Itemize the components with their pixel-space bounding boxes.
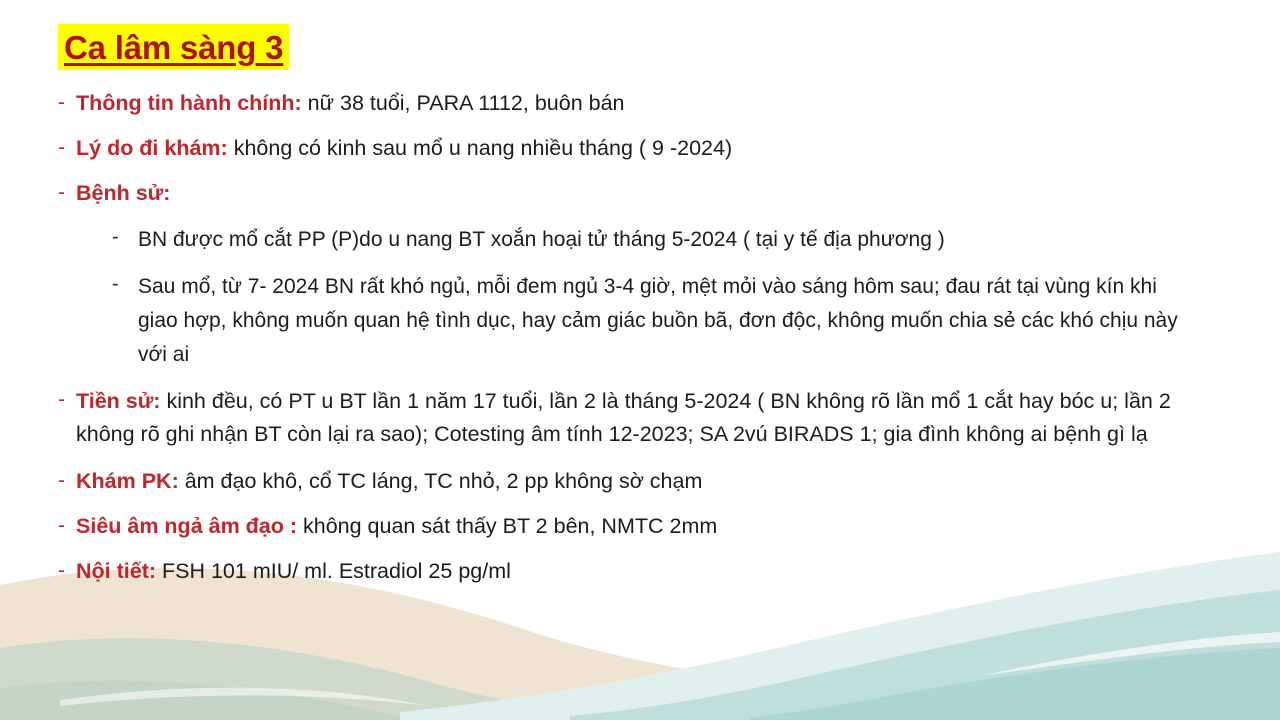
list-item: - Tiền sử: kinh đều, có PT u BT lần 1 nă…	[58, 385, 1238, 451]
list-item-label: Khám PK:	[76, 469, 179, 493]
bullet-dash: -	[58, 556, 76, 586]
title-container: Ca lâm sàng 3	[58, 24, 289, 70]
teal-highlight-streak	[980, 632, 1280, 676]
content-list: - Thông tin hành chính: nữ 38 tuổi, PARA…	[58, 88, 1238, 601]
list-item-value: kinh đều, có PT u BT lần 1 năm 17 tuổi, …	[76, 389, 1171, 446]
list-item-text: Khám PK: âm đạo khô, cổ TC láng, TC nhỏ,…	[76, 466, 702, 496]
list-item-value: âm đạo khô, cổ TC láng, TC nhỏ, 2 pp khô…	[179, 469, 703, 493]
list-item: - Lý do đi khám: không có kinh sau mổ u …	[58, 133, 1238, 163]
list-item-value: nữ 38 tuổi, PARA 1112, buôn bán	[302, 91, 625, 115]
list-item-text: Siêu âm ngả âm đạo : không quan sát thấy…	[76, 511, 717, 541]
bullet-dash: -	[58, 133, 76, 163]
sub-list-item-text: Sau mổ, từ 7- 2024 BN rất khó ngủ, mỗi đ…	[138, 270, 1198, 372]
list-item-text: Bệnh sử:	[76, 178, 170, 208]
bullet-dash: -	[58, 385, 76, 415]
list-item: - Thông tin hành chính: nữ 38 tuổi, PARA…	[58, 88, 1238, 118]
list-item-label: Thông tin hành chính:	[76, 91, 302, 115]
list-item: - Bệnh sử:	[58, 178, 1238, 208]
list-item-label: Bệnh sử:	[76, 181, 170, 205]
teal-wave-shape	[570, 590, 1280, 720]
sub-list-item: - BN được mổ cắt PP (P)do u nang BT xoắn…	[112, 223, 1238, 257]
tan-wave-shape	[0, 679, 720, 720]
list-item: - Siêu âm ngả âm đạo : không quan sát th…	[58, 511, 1238, 541]
sage-deep-wave-shape	[0, 681, 440, 720]
bullet-dash: -	[112, 270, 138, 299]
list-item-text: Nội tiết: FSH 101 mIU/ ml. Estradiol 25 …	[76, 556, 511, 586]
list-item-label: Lý do đi khám:	[76, 136, 228, 160]
teal-deep-wave-shape	[750, 648, 1280, 720]
list-item: - Khám PK: âm đạo khô, cổ TC láng, TC nh…	[58, 466, 1238, 496]
list-item-value: không quan sát thấy BT 2 bên, NMTC 2mm	[297, 514, 717, 538]
bullet-dash: -	[58, 466, 76, 496]
list-item-text: Tiền sử: kinh đều, có PT u BT lần 1 năm …	[76, 385, 1196, 451]
list-item-value: FSH 101 mIU/ ml. Estradiol 25 pg/ml	[156, 559, 511, 583]
bullet-dash: -	[58, 178, 76, 208]
list-item-value: không có kinh sau mổ u nang nhiều tháng …	[228, 136, 732, 160]
bullet-dash: -	[58, 511, 76, 541]
white-streak-left	[60, 688, 430, 706]
list-item-label: Siêu âm ngả âm đạo :	[76, 514, 297, 538]
bullet-dash: -	[112, 223, 138, 252]
list-item-label: Tiền sử:	[76, 389, 160, 413]
list-item-text: Lý do đi khám: không có kinh sau mổ u na…	[76, 133, 732, 163]
sub-list-item-text: BN được mổ cắt PP (P)do u nang BT xoắn h…	[138, 223, 945, 257]
slide: Ca lâm sàng 3 - Thông tin hành chính: nữ…	[0, 0, 1280, 720]
slide-title: Ca lâm sàng 3	[58, 24, 289, 70]
bullet-dash: -	[58, 88, 76, 118]
sub-list-item: - Sau mổ, từ 7- 2024 BN rất khó ngủ, mỗi…	[112, 270, 1238, 372]
list-item-label: Nội tiết:	[76, 559, 156, 583]
list-item: - Nội tiết: FSH 101 mIU/ ml. Estradiol 2…	[58, 556, 1238, 586]
sage-wave-shape	[0, 638, 700, 720]
list-item-text: Thông tin hành chính: nữ 38 tuổi, PARA 1…	[76, 88, 625, 118]
